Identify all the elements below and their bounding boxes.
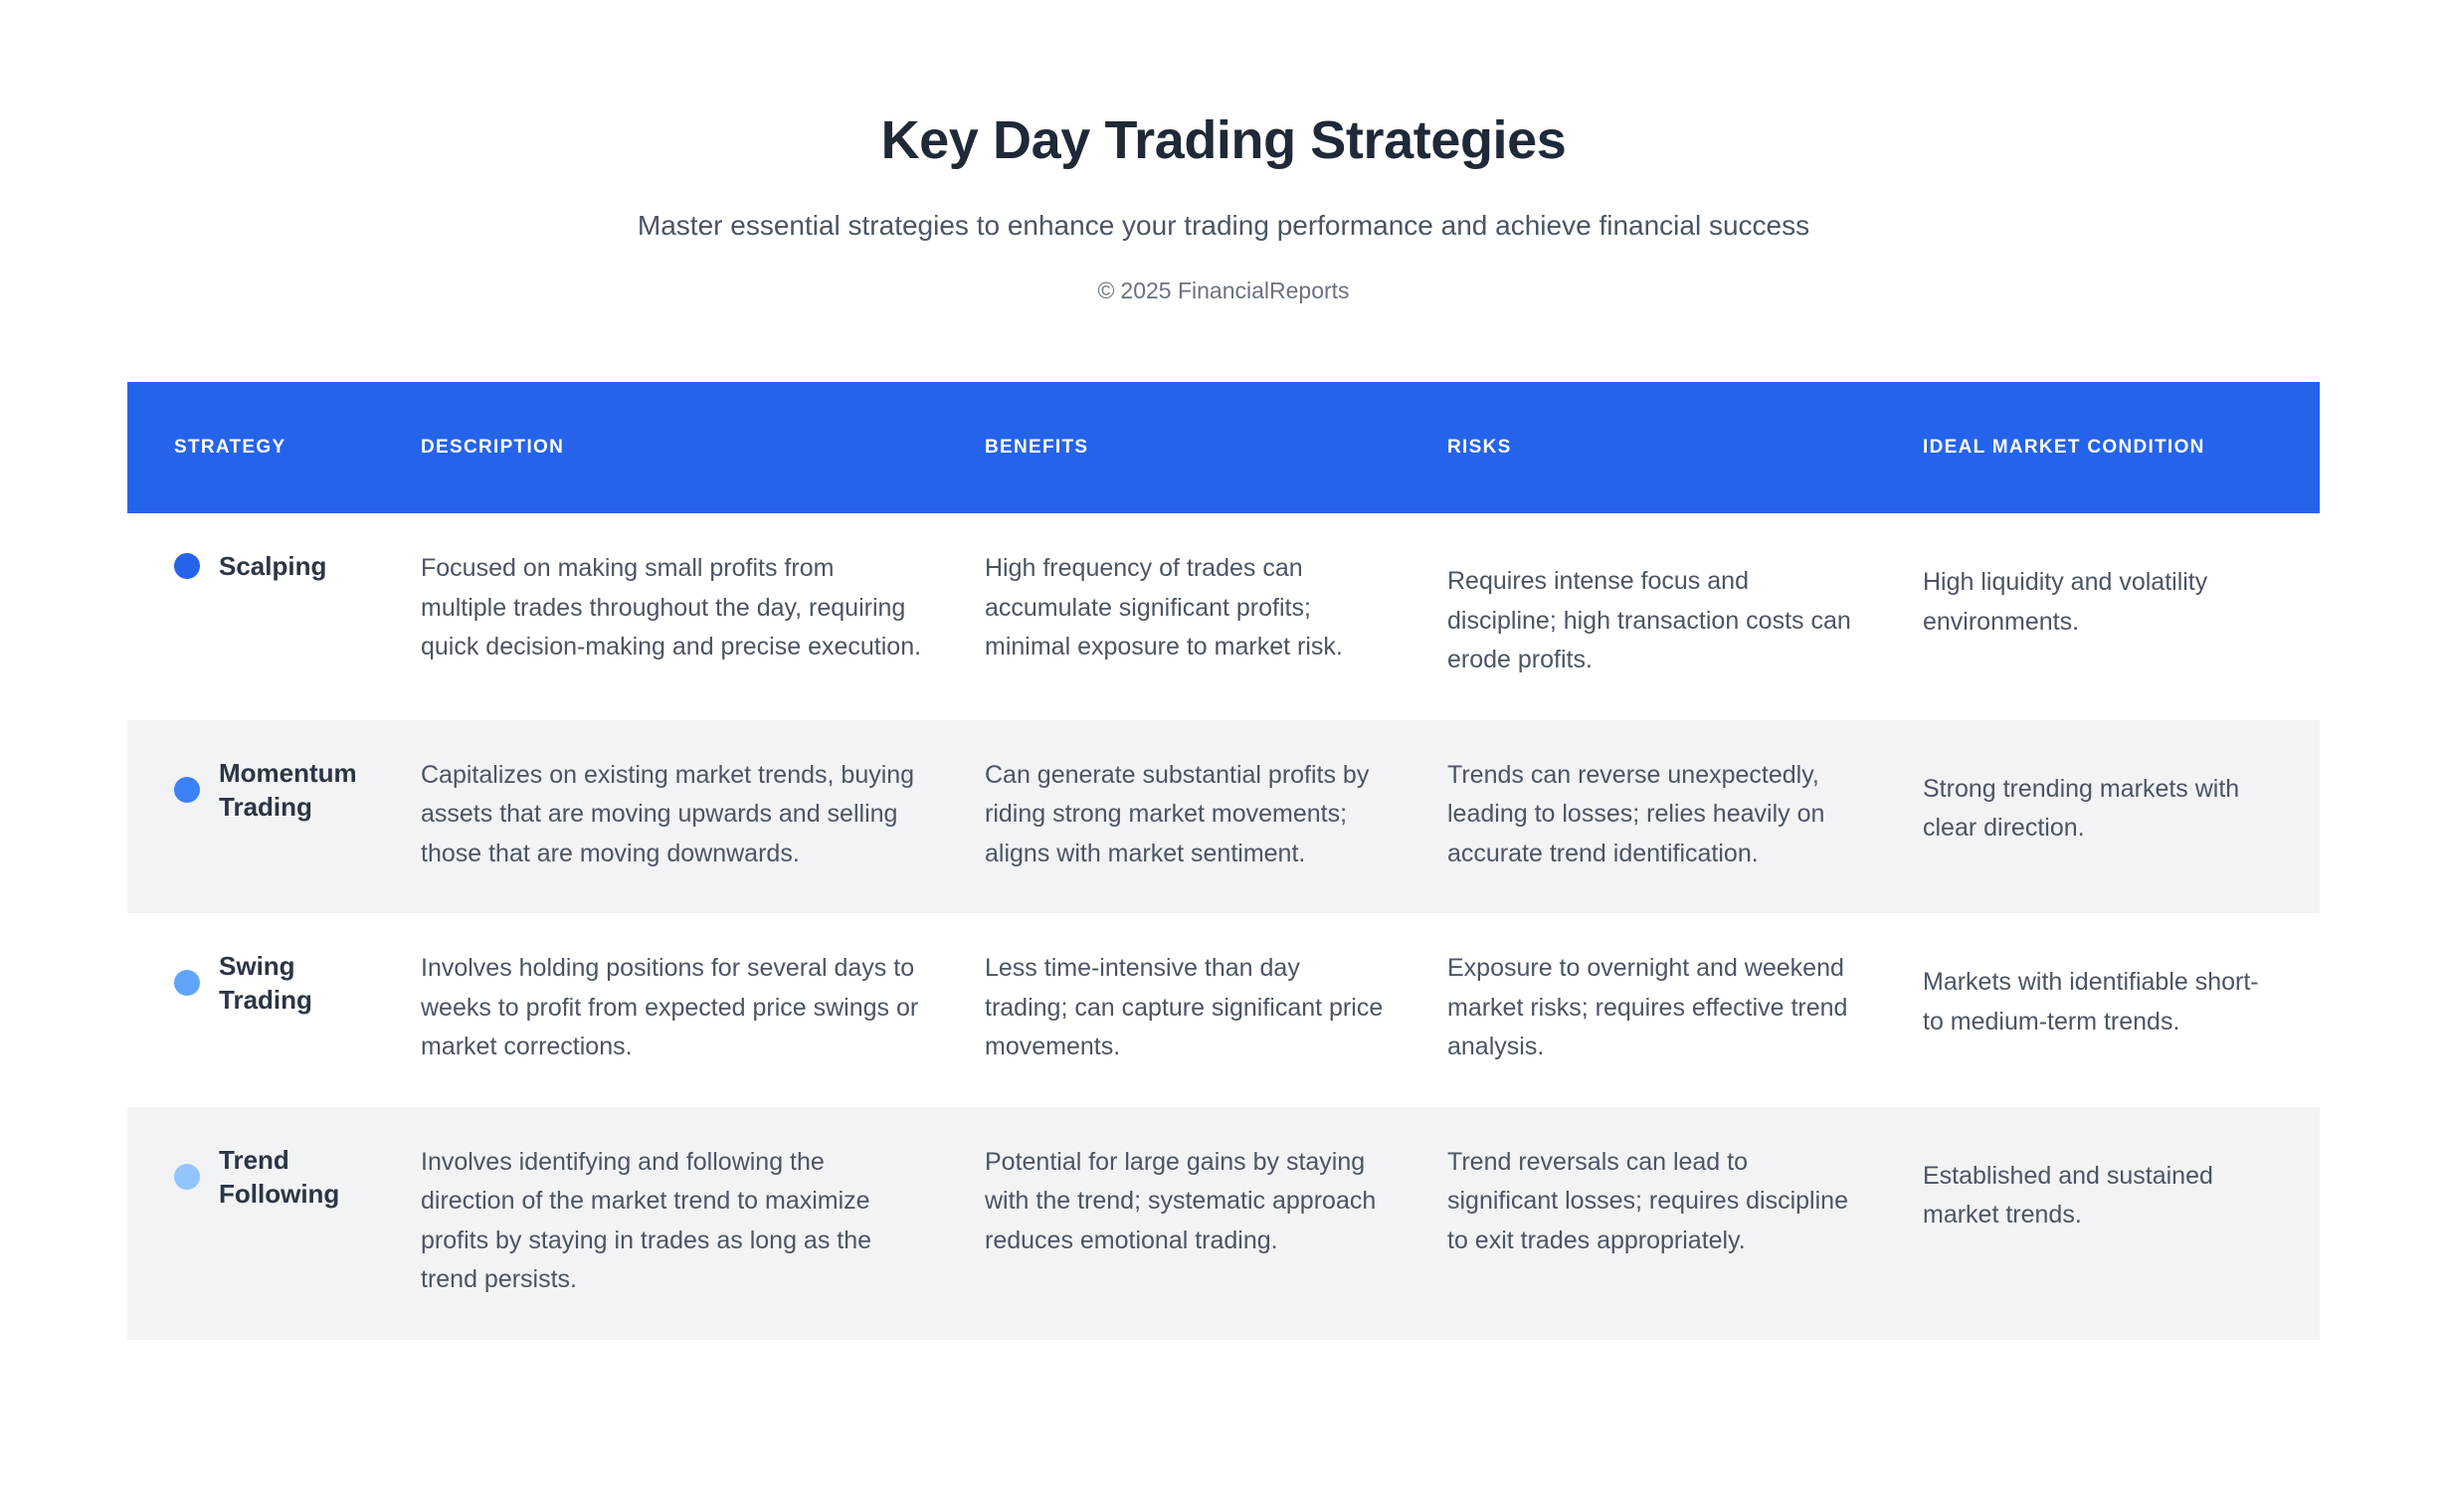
column-header-ideal-market-condition[interactable]: IDEAL MARKET CONDITION: [1893, 382, 2320, 513]
cell-benefits: Can generate substantial profits by ridi…: [955, 720, 1417, 914]
cell-strategy: Scalping: [127, 513, 391, 720]
table-row: Scalping Focused on making small profits…: [127, 513, 2320, 720]
column-header-description[interactable]: DESCRIPTION: [391, 382, 955, 513]
cell-strategy: Swing Trading: [127, 913, 391, 1107]
table-header-row: STRATEGY DESCRIPTION BENEFITS RISKS IDEA…: [127, 382, 2320, 513]
column-header-risks[interactable]: RISKS: [1417, 382, 1893, 513]
page-header: Key Day Trading Strategies Master essent…: [0, 0, 2447, 306]
strategy-name: Momentum Trading: [219, 756, 361, 825]
cell-strategy: Trend Following: [127, 1107, 391, 1340]
strategy-name: Scalping: [219, 549, 326, 583]
table-row: Momentum Trading Capitalizes on existing…: [127, 720, 2320, 914]
cell-risks: Trends can reverse unexpectedly, leading…: [1417, 720, 1893, 914]
table-row: Swing Trading Involves holding positions…: [127, 913, 2320, 1107]
cell-description: Capitalizes on existing market trends, b…: [391, 720, 955, 914]
page-title: Key Day Trading Strategies: [0, 111, 2447, 170]
cell-risks: Exposure to overnight and weekend market…: [1417, 913, 1893, 1107]
table-body: Scalping Focused on making small profits…: [127, 513, 2320, 1340]
strategy-name: Swing Trading: [219, 949, 361, 1018]
cell-benefits: High frequency of trades can accumulate …: [955, 513, 1417, 720]
cell-ideal-market-condition: Markets with identifiable short- to medi…: [1893, 913, 2320, 1107]
strategy-name: Trend Following: [219, 1143, 361, 1212]
column-header-strategy[interactable]: STRATEGY: [127, 382, 391, 513]
column-header-benefits[interactable]: BENEFITS: [955, 382, 1417, 513]
cell-ideal-market-condition: Strong trending markets with clear direc…: [1893, 720, 2320, 914]
cell-description: Involves identifying and following the d…: [391, 1107, 955, 1340]
strategy-table-container: STRATEGY DESCRIPTION BENEFITS RISKS IDEA…: [127, 382, 2320, 1340]
cell-benefits: Potential for large gains by staying wit…: [955, 1107, 1417, 1340]
copyright-icon: ©: [1097, 278, 1114, 303]
table-header: STRATEGY DESCRIPTION BENEFITS RISKS IDEA…: [127, 382, 2320, 513]
strategy-color-dot-icon: [174, 777, 200, 803]
cell-description: Focused on making small profits from mul…: [391, 513, 955, 720]
cell-description: Involves holding positions for several d…: [391, 913, 955, 1107]
strategy-color-dot-icon: [174, 553, 200, 579]
cell-risks: Trend reversals can lead to significant …: [1417, 1107, 1893, 1340]
copyright-text: 2025 FinancialReports: [1120, 278, 1349, 303]
cell-risks: Requires intense focus and discipline; h…: [1417, 513, 1893, 720]
strategy-color-dot-icon: [174, 1164, 200, 1190]
cell-strategy: Momentum Trading: [127, 720, 391, 914]
table-row: Trend Following Involves identifying and…: [127, 1107, 2320, 1340]
page-root: Key Day Trading Strategies Master essent…: [0, 0, 2447, 1512]
copyright-line: ©2025 FinancialReports: [0, 277, 2447, 306]
strategy-table: STRATEGY DESCRIPTION BENEFITS RISKS IDEA…: [127, 382, 2320, 1340]
cell-ideal-market-condition: High liquidity and volatility environmen…: [1893, 513, 2320, 720]
strategy-color-dot-icon: [174, 970, 200, 996]
cell-ideal-market-condition: Established and sustained market trends.: [1893, 1107, 2320, 1340]
cell-benefits: Less time-intensive than day trading; ca…: [955, 913, 1417, 1107]
page-subtitle: Master essential strategies to enhance y…: [0, 208, 2447, 244]
